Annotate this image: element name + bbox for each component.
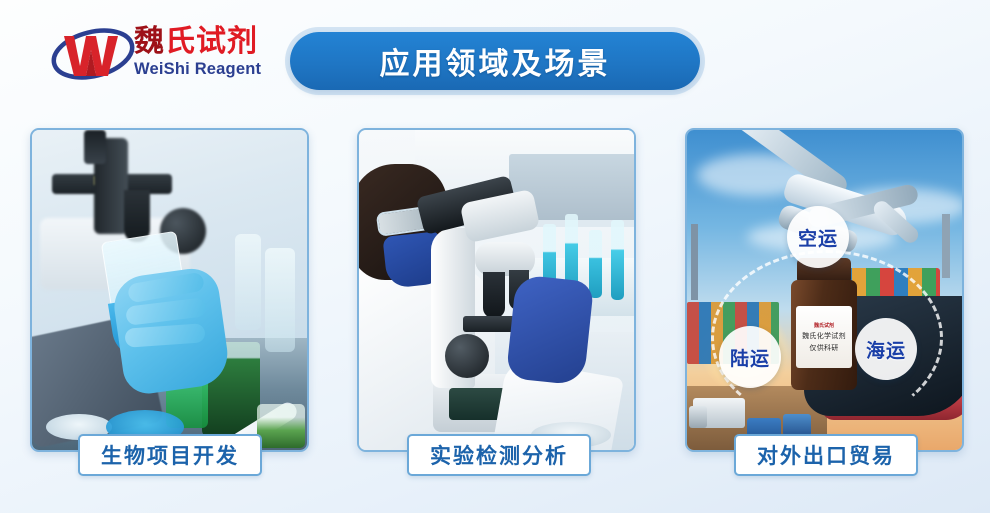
cargo-truck-cab (689, 406, 707, 428)
shipping-mode-sea-label: 海运 (866, 336, 906, 363)
green-sample-jar (257, 404, 305, 448)
card-lab-caption-label: 实验检测分析 (430, 440, 568, 470)
card-bio-caption: 生物项目开发 (78, 434, 262, 476)
shipping-mode-land-label: 陆运 (730, 344, 770, 371)
shipping-mode-air: 空运 (787, 206, 849, 268)
bottle-label-brand: 魏氏试剂 (814, 322, 834, 329)
microscope-focus-knob (445, 334, 489, 378)
card-lab-photo (359, 130, 634, 450)
card-export-caption: 对外出口贸易 (734, 434, 918, 476)
shipping-mode-land: 陆运 (719, 326, 781, 388)
card-export-caption-label: 对外出口贸易 (757, 440, 895, 470)
blue-glove (506, 274, 594, 386)
cards-container: 魏氏试剂 魏氏化学试剂 仅供科研 空运 陆运 海运 生物项目开发 (0, 0, 990, 513)
bottle-label-line2: 仅供科研 (809, 343, 838, 353)
port-crane (691, 224, 698, 300)
microscope-objective (124, 190, 150, 242)
test-tube (589, 230, 602, 298)
card-export-photo: 魏氏试剂 魏氏化学试剂 仅供科研 空运 陆运 海运 (687, 130, 962, 450)
microscope-eyepiece (84, 130, 106, 164)
shipping-mode-air-label: 空运 (798, 224, 838, 251)
slide-root: 魏氏试剂 WeiShi Reagent 应用领域及场景 (0, 0, 990, 513)
glass-tube-back (235, 234, 261, 330)
shipping-mode-sea: 海运 (855, 318, 917, 380)
bottle-label-line1: 魏氏化学试剂 (802, 331, 846, 341)
card-export[interactable]: 魏氏试剂 魏氏化学试剂 仅供科研 空运 陆运 海运 (685, 128, 964, 452)
test-tube (611, 220, 624, 300)
card-bio-caption-label: 生物项目开发 (101, 440, 239, 470)
ship-crane (942, 214, 950, 278)
glass-tube-front (265, 248, 295, 352)
card-bio[interactable] (30, 128, 309, 452)
reagent-bottle: 魏氏试剂 魏氏化学试剂 仅供科研 (791, 258, 857, 390)
card-lab-caption: 实验检测分析 (407, 434, 591, 476)
card-lab[interactable] (357, 128, 636, 452)
microscope-objective (483, 272, 505, 318)
bottle-label: 魏氏试剂 魏氏化学试剂 仅供科研 (796, 306, 852, 368)
card-bio-photo (32, 130, 307, 450)
